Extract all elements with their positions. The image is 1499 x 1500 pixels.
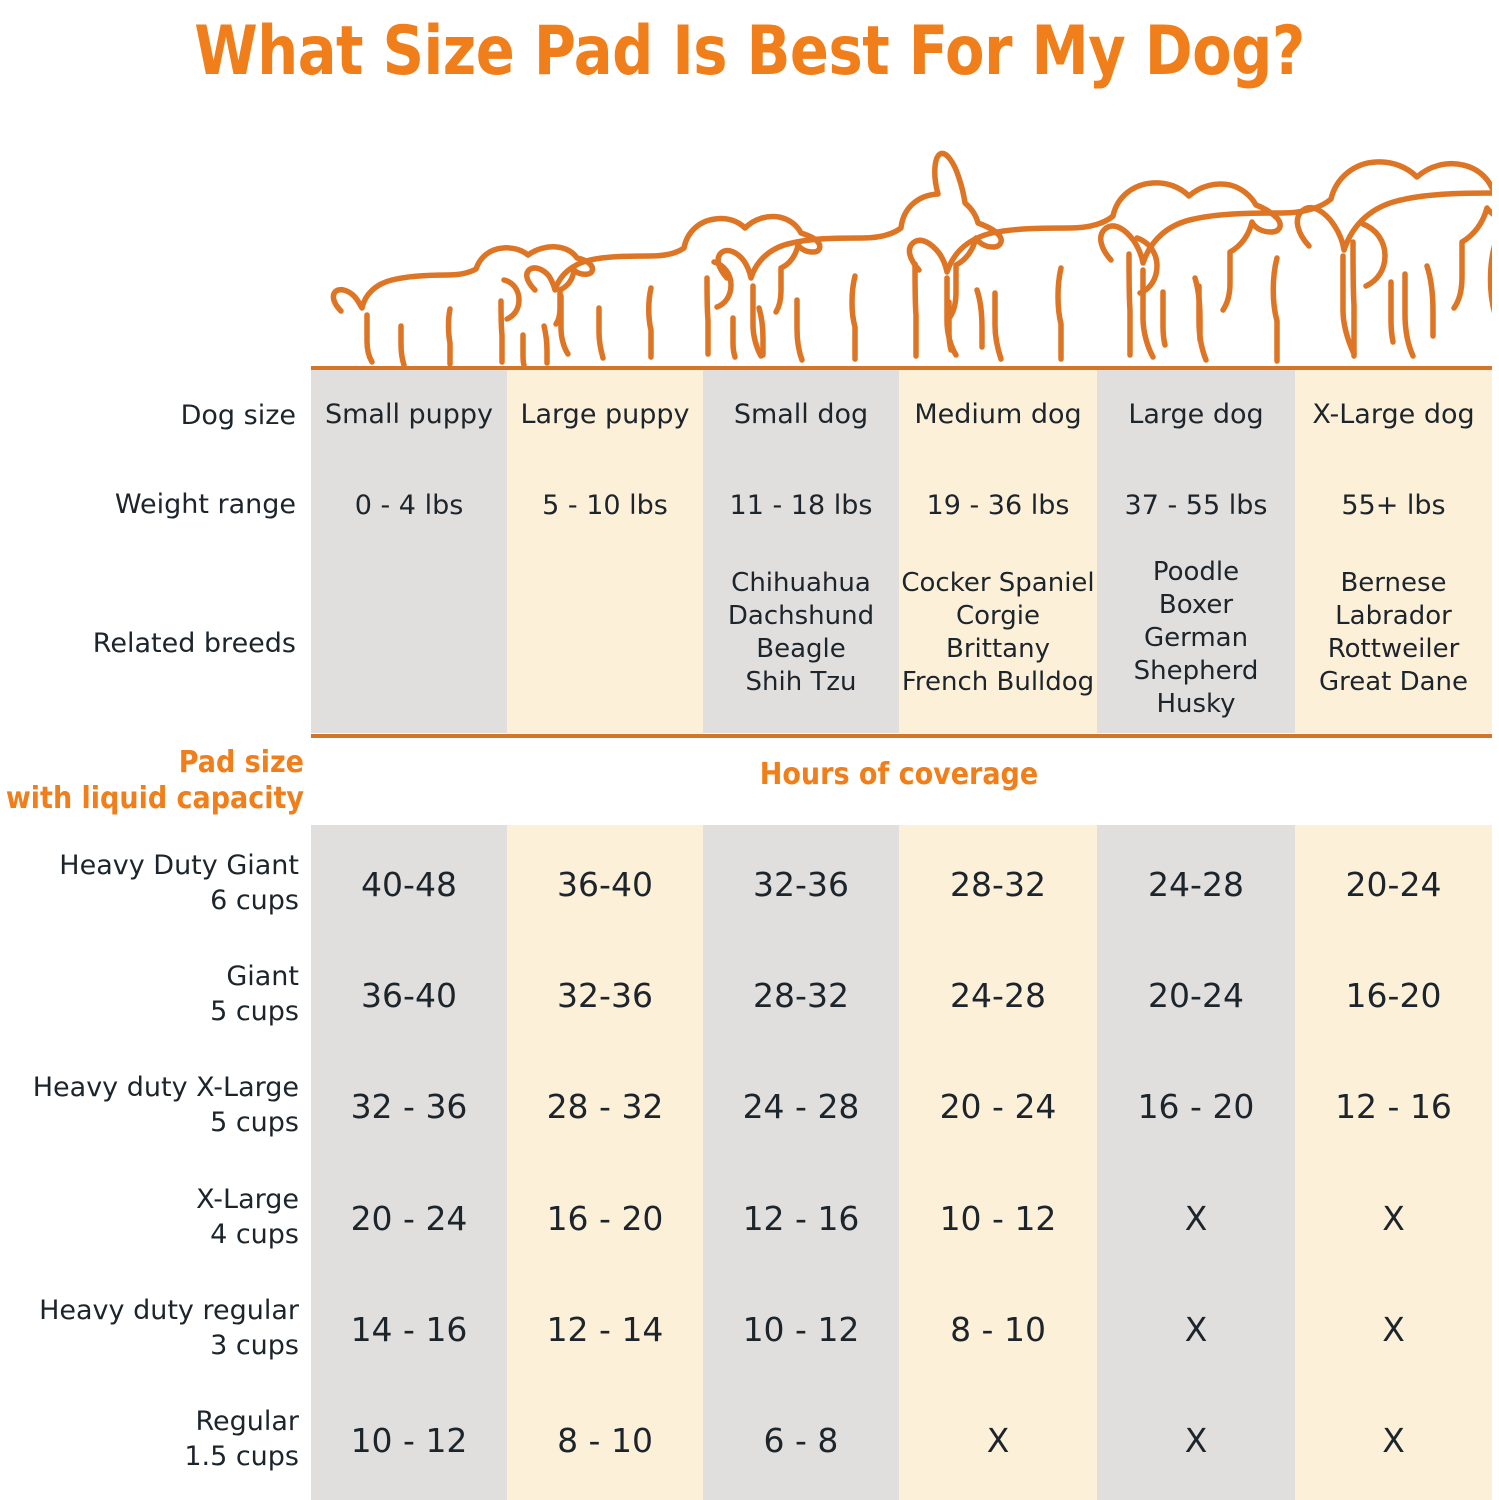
pad-cell-r2c2: 32-36 (507, 977, 703, 1015)
dog-silhouette-row (311, 150, 1492, 367)
pad-name-2: Giant (210, 959, 299, 994)
pad-name-1: Heavy Duty Giant (59, 848, 299, 883)
cell-weight-1: 0 - 4 lbs (311, 489, 507, 522)
pad-cell-r2c6: 16-20 (1295, 977, 1492, 1015)
cell-dog-size-6: X-Large dog (1295, 398, 1492, 431)
stripe-col-4-bottom (899, 825, 1097, 1500)
pad-row-label-2: Giant 5 cups (210, 959, 299, 1029)
cell-weight-2: 5 - 10 lbs (507, 489, 703, 522)
pad-size-heading: Pad size with liquid capacity (0, 745, 304, 817)
pad-name-5: Heavy duty regular (39, 1293, 299, 1328)
pad-cell-r5c2: 12 - 14 (507, 1311, 703, 1349)
pad-capacity-3: 5 cups (33, 1105, 299, 1140)
pad-row-label-4: X-Large 4 cups (196, 1182, 299, 1252)
pad-capacity-5: 3 cups (39, 1328, 299, 1363)
pad-cell-r1c5: 24-28 (1097, 866, 1295, 904)
pad-cell-r4c5: X (1097, 1200, 1295, 1238)
pad-cell-r6c3: 6 - 8 (703, 1422, 899, 1460)
cell-breeds-3: Chihuahua Dachshund Beagle Shih Tzu (703, 567, 899, 699)
pad-cell-r2c3: 28-32 (703, 977, 899, 1015)
row-label-dog-size: Dog size (181, 398, 296, 433)
pad-capacity-4: 4 cups (196, 1217, 299, 1252)
large-puppy-silhouette-icon (527, 216, 820, 358)
pad-cell-r1c4: 28-32 (899, 866, 1097, 904)
cell-breeds-5: Poodle Boxer German Shepherd Husky (1097, 556, 1295, 721)
cell-breeds-6: Bernese Labrador Rottweiler Great Dane (1295, 567, 1492, 699)
stripe-col-3-bottom (703, 825, 899, 1500)
pad-size-heading-line1: Pad size (0, 745, 304, 781)
pad-name-3: Heavy duty X-Large (33, 1070, 299, 1105)
row-label-weight-range: Weight range (115, 487, 296, 522)
pad-cell-r5c1: 14 - 16 (311, 1311, 507, 1349)
cell-dog-size-3: Small dog (703, 398, 899, 431)
cell-dog-size-4: Medium dog (899, 398, 1097, 431)
cell-weight-6: 55+ lbs (1295, 489, 1492, 522)
pad-cell-r6c1: 10 - 12 (311, 1422, 507, 1460)
pad-name-4: X-Large (196, 1182, 299, 1217)
pad-row-label-1: Heavy Duty Giant 6 cups (59, 848, 299, 918)
stripe-col-6-bottom (1295, 825, 1492, 1500)
pad-row-label-6: Regular 1.5 cups (184, 1404, 299, 1474)
pad-cell-r4c6: X (1295, 1200, 1492, 1238)
pad-cell-r4c4: 10 - 12 (899, 1200, 1097, 1238)
pad-cell-r3c1: 32 - 36 (311, 1088, 507, 1126)
pad-cell-r2c4: 24-28 (899, 977, 1097, 1015)
pad-row-label-3: Heavy duty X-Large 5 cups (33, 1070, 299, 1140)
pad-cell-r3c3: 24 - 28 (703, 1088, 899, 1126)
pad-capacity-2: 5 cups (210, 994, 299, 1029)
pad-cell-r5c3: 10 - 12 (703, 1311, 899, 1349)
small-puppy-silhouette-icon (333, 247, 592, 365)
pad-cell-r6c4: X (899, 1422, 1097, 1460)
pad-cell-r5c4: 8 - 10 (899, 1311, 1097, 1349)
pad-cell-r1c2: 36-40 (507, 866, 703, 904)
divider-rule-middle (311, 734, 1492, 738)
pad-row-label-5: Heavy duty regular 3 cups (39, 1293, 299, 1363)
pad-cell-r1c6: 20-24 (1295, 866, 1492, 904)
pad-capacity-1: 6 cups (59, 883, 299, 918)
pad-cell-r3c6: 12 - 16 (1295, 1088, 1492, 1126)
pad-cell-r1c3: 32-36 (703, 866, 899, 904)
pad-cell-r3c5: 16 - 20 (1097, 1088, 1295, 1126)
pad-size-heading-line2: with liquid capacity (0, 781, 304, 817)
pad-cell-r4c3: 12 - 16 (703, 1200, 899, 1238)
pad-cell-r3c4: 20 - 24 (899, 1088, 1097, 1126)
cell-dog-size-2: Large puppy (507, 398, 703, 431)
pad-cell-r4c1: 20 - 24 (311, 1200, 507, 1238)
stripe-col-2-bottom (507, 825, 703, 1500)
cell-dog-size-5: Large dog (1097, 398, 1295, 431)
cell-dog-size-1: Small puppy (311, 398, 507, 431)
pad-cell-r6c2: 8 - 10 (507, 1422, 703, 1460)
cell-weight-5: 37 - 55 lbs (1097, 489, 1295, 522)
pad-cell-r3c2: 28 - 32 (507, 1088, 703, 1126)
pad-cell-r6c6: X (1295, 1422, 1492, 1460)
pad-cell-r1c1: 40-48 (311, 866, 507, 904)
pad-cell-r6c5: X (1097, 1422, 1295, 1460)
pad-cell-r2c1: 36-40 (311, 977, 507, 1015)
cell-weight-4: 19 - 36 lbs (899, 489, 1097, 522)
medium-dog-silhouette-icon (909, 183, 1280, 359)
pad-cell-r2c5: 20-24 (1097, 977, 1295, 1015)
pad-cell-r4c2: 16 - 20 (507, 1200, 703, 1238)
pad-capacity-6: 1.5 cups (184, 1439, 299, 1474)
cell-breeds-4: Cocker Spaniel Corgie Brittany French Bu… (899, 567, 1097, 699)
hours-of-coverage-heading: Hours of coverage (703, 757, 1095, 793)
pad-cell-r5c5: X (1097, 1311, 1295, 1349)
pad-cell-r5c6: X (1295, 1311, 1492, 1349)
cell-weight-3: 11 - 18 lbs (703, 489, 899, 522)
stripe-col-5-bottom (1097, 825, 1295, 1500)
row-label-related-breeds: Related breeds (93, 626, 296, 661)
stripe-col-1-bottom (311, 825, 507, 1500)
pad-name-6: Regular (184, 1404, 299, 1439)
